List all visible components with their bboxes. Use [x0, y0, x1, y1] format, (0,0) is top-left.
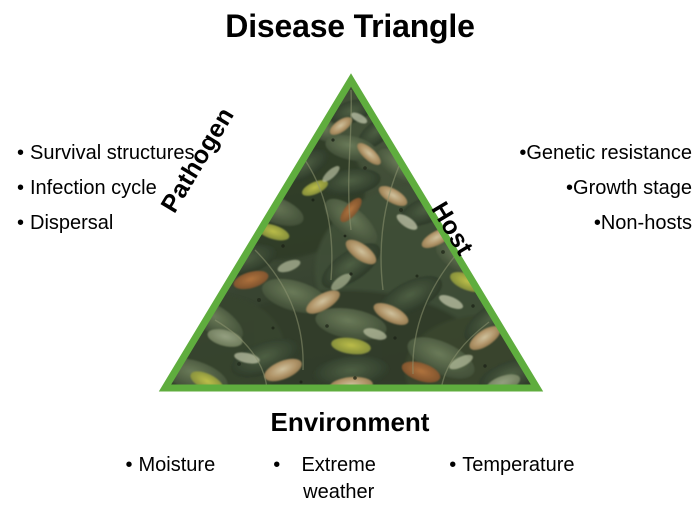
- list-item-label: Dispersal: [30, 212, 113, 234]
- bullet-icon: •: [560, 171, 573, 206]
- list-item-label: Temperature: [462, 452, 574, 479]
- bullet-icon: •: [17, 171, 30, 206]
- bullet-icon: •: [17, 206, 30, 241]
- environment-bullet-list: •Moisture •Extreme weather •Temperature: [0, 452, 700, 506]
- list-item-label: Non-hosts: [601, 212, 692, 234]
- host-bullet-list: •Genetic resistance •Growth stage •Non-h…: [513, 136, 692, 241]
- list-item: •Non-hosts: [513, 206, 692, 241]
- bullet-icon: •: [588, 206, 601, 241]
- bullet-icon: •: [126, 452, 139, 479]
- list-item-label: Growth stage: [573, 177, 692, 199]
- list-item-label: Genetic resistance: [526, 142, 692, 164]
- pathogen-bullet-list: •Survival structures •Infection cycle •D…: [17, 136, 195, 241]
- bullet-icon: •: [273, 452, 286, 479]
- bullet-icon: •: [449, 452, 462, 479]
- page-title: Disease Triangle: [0, 6, 700, 46]
- bullet-icon: •: [513, 136, 526, 171]
- list-item: •Moisture: [126, 452, 216, 479]
- list-item: •Infection cycle: [17, 171, 195, 206]
- list-item: •Survival structures: [17, 136, 195, 171]
- list-item: •Temperature: [449, 452, 574, 479]
- list-item-label: Survival structures: [30, 142, 195, 164]
- list-item-label: Infection cycle: [30, 177, 157, 199]
- environment-heading: Environment: [0, 406, 700, 438]
- bullet-icon: •: [17, 136, 30, 171]
- list-item: •Growth stage: [513, 171, 692, 206]
- list-item-label: Moisture: [139, 452, 216, 479]
- list-item: •Genetic resistance: [513, 136, 692, 171]
- list-item: •Dispersal: [17, 206, 195, 241]
- list-item: •Extreme weather: [273, 452, 391, 506]
- list-item-label: Extreme weather: [286, 452, 391, 506]
